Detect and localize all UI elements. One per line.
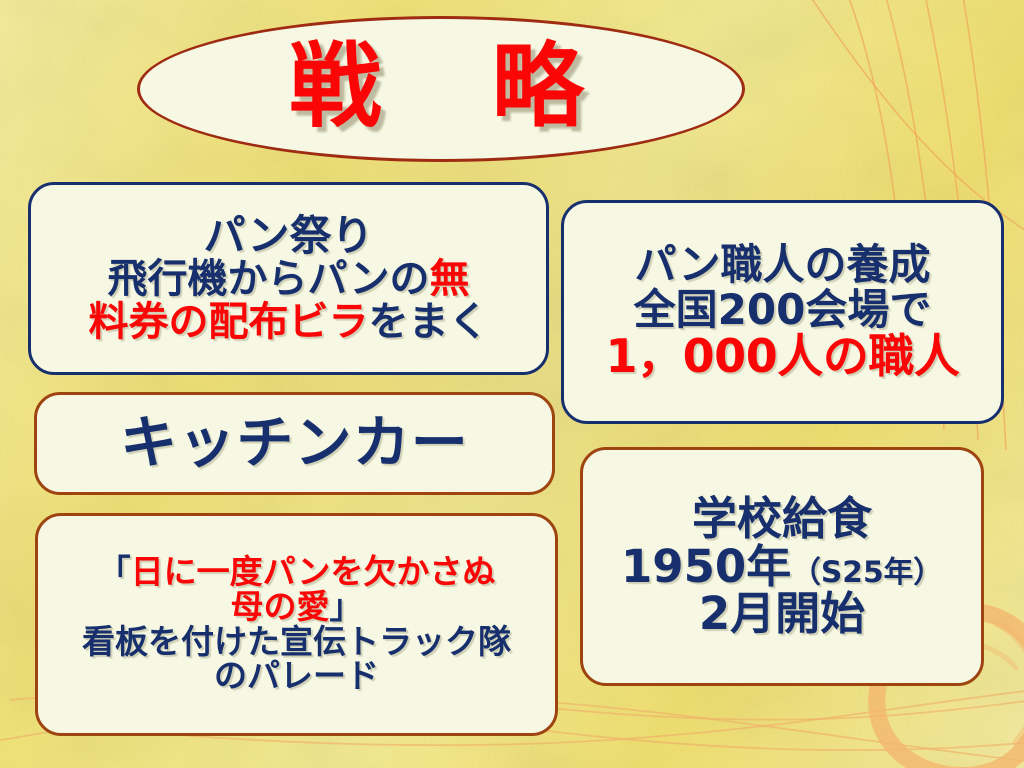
card-line: 母の愛」 [231, 590, 363, 625]
card-school-lunch[interactable]: 学校給食 1950年（S25年） 2月開始 [580, 447, 984, 686]
card-line: 看板を付けた宣伝トラック隊 [82, 625, 511, 660]
card-baker-training[interactable]: パン職人の養成 全国200会場で 1，000人の職人 [561, 200, 1004, 424]
card-line: 全国200会場で [634, 288, 932, 333]
card-line: 料券の配布ビラをまく [89, 301, 489, 343]
card-text-segment: をまく [369, 299, 489, 345]
card-text-segment-highlight: 母の愛 [231, 587, 330, 626]
card-line: パン職人の養成 [634, 243, 930, 288]
card-text-segment-highlight: 日に一度パンを欠かさぬ [131, 552, 496, 591]
card-text-segment: 飛行機からパンの [108, 256, 430, 302]
card-line: 学校給食 [692, 495, 872, 543]
card-kitchen-car[interactable]: キッチンカー [34, 392, 555, 495]
card-text-segment-highlight: 無 [430, 256, 470, 302]
page-title: 戦 略 [289, 41, 593, 133]
card-line: パン祭り [203, 214, 373, 259]
card-line: 2月開始 [699, 590, 865, 638]
card-line: 飛行機からパンの無 [108, 258, 470, 300]
card-line: のパレード [214, 659, 379, 694]
card-line: 「日に一度パンを欠かさぬ [98, 555, 496, 590]
card-text-segment: 」 [330, 587, 363, 626]
card-line: キッチンカー [120, 413, 469, 473]
card-text-segment-highlight: 料券の配布ビラ [89, 299, 369, 345]
card-text-segment: 1950年 [621, 540, 791, 593]
card-line: 1950年（S25年） [621, 543, 943, 591]
card-text-segment: 「 [98, 552, 131, 591]
card-text-segment-era: （S25年） [791, 555, 943, 590]
card-line-highlight: 1，000人の職人 [606, 332, 960, 381]
card-pan-festival[interactable]: パン祭り 飛行機からパンの無 料券の配布ビラをまく [28, 182, 549, 375]
slide-canvas: 戦 略 パン祭り 飛行機からパンの無 料券の配布ビラをまく パン職人の養成 全国… [0, 0, 1024, 768]
card-truck-parade[interactable]: 「日に一度パンを欠かさぬ 母の愛」 看板を付けた宣伝トラック隊 のパレード [35, 513, 558, 736]
title-ellipse: 戦 略 [137, 16, 745, 162]
